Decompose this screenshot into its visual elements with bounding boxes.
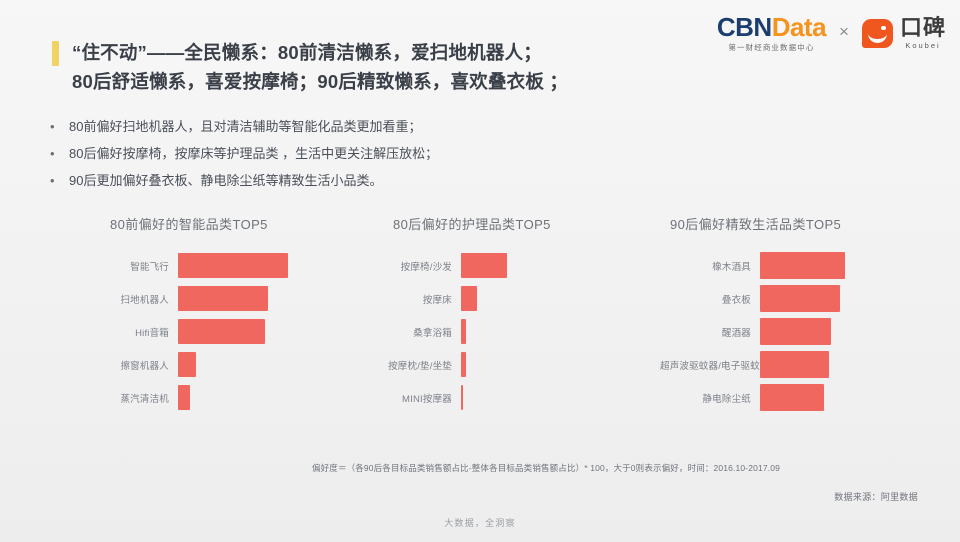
list-item: • 80后偏好按摩椅，按摩床等护理品类 ，生活中更关注解压放松； [50,145,438,163]
bar-fill [760,351,829,378]
bar-row: 智能飞行 [100,249,330,282]
koubei-wordmark: 口碑 Koubei [900,17,946,50]
bar-track [760,282,840,315]
bar-row: MINI按摩器 [385,381,615,414]
bar-category-label: 擦窗机器人 [100,358,178,372]
bar-category-label: 桑拿浴箱 [385,325,461,339]
bar-category-label: 静电除尘纸 [660,391,760,405]
bar-category-label: Hifi音箱 [100,325,178,339]
bar-fill [178,286,268,311]
bar-fill [178,253,288,278]
bullet-text: 80后偏好按摩椅，按摩床等护理品类 ，生活中更关注解压放松； [69,145,438,163]
bar-row: 蒸汽清洁机 [100,381,330,414]
chart-title: 80后偏好的护理品类TOP5 [385,214,615,233]
bar-track [760,315,831,348]
bar-fill [760,252,845,279]
bar-fill [760,384,824,411]
bar-fill [461,253,507,278]
koubei-name-en: Koubei [905,41,940,50]
koubei-smile-icon [862,19,893,48]
bar-row: Hifi音箱 [100,315,330,348]
bar-fill [461,385,463,410]
chart-90hou-refined-life: 90后偏好精致生活品类TOP5 橡木酒具 叠衣板 醒酒器 超声波驱蚊器/电子驱蚊… [660,214,940,414]
chart-80hou-care: 80后偏好的护理品类TOP5 按摩椅/沙发 按摩床 桑拿浴箱 按摩枕/垫/坐垫 [385,214,615,414]
list-item: • 80前偏好扫地机器人，且对清洁辅助等智能化品类更加看重； [50,118,438,136]
cbndata-subtitle: 第一财经商业数据中心 [728,42,814,53]
title-accent-bar [52,41,59,66]
bar-track [461,249,507,282]
bar-row: 扫地机器人 [100,282,330,315]
title-line-1: “住不动”——全民懒系：80前清洁懒系，爱扫地机器人； [72,38,568,67]
bar-series: 智能飞行 扫地机器人 Hifi音箱 擦窗机器人 蒸汽清洁机 [100,249,330,414]
data-source-note: 数据来源：阿里数据 [834,490,918,503]
bar-track [178,282,268,315]
bar-fill [178,319,265,344]
title-text-block: “住不动”——全民懒系：80前清洁懒系，爱扫地机器人； 80后舒适懒系，喜爱按摩… [72,38,568,96]
bar-track [178,381,190,414]
slide-title: “住不动”——全民懒系：80前清洁懒系，爱扫地机器人； 80后舒适懒系，喜爱按摩… [52,38,568,96]
bar-series: 按摩椅/沙发 按摩床 桑拿浴箱 按摩枕/垫/坐垫 MINI按摩器 [385,249,615,414]
bar-fill [461,352,466,377]
bar-row: 超声波驱蚊器/电子驱蚊器 [660,348,940,381]
bar-track [178,348,196,381]
bar-fill [178,352,196,377]
chart-80qian-smart: 80前偏好的智能品类TOP5 智能飞行 扫地机器人 Hifi音箱 擦窗机器人 [100,214,330,414]
bar-category-label: 扫地机器人 [100,292,178,306]
bar-track [760,348,829,381]
list-item: • 90后更加偏好叠衣板、静电除尘纸等精致生活小品类。 [50,172,438,190]
bullet-marker-icon: • [50,174,56,187]
bar-fill [760,318,831,345]
bar-row: 擦窗机器人 [100,348,330,381]
bar-category-label: 超声波驱蚊器/电子驱蚊器 [660,358,760,372]
methodology-footnote: 偏好度＝（各90后各目标品类销售额占比-整体各目标品类销售额占比）* 100，大… [312,462,780,474]
bar-fill [461,286,477,311]
bar-category-label: 橡木酒具 [660,259,760,273]
charts-region: 80前偏好的智能品类TOP5 智能飞行 扫地机器人 Hifi音箱 擦窗机器人 [0,214,960,444]
bar-row: 桑拿浴箱 [385,315,615,348]
bar-fill [461,319,466,344]
bar-category-label: 按摩床 [385,292,461,306]
bar-row: 橡木酒具 [660,249,940,282]
slide-canvas: CBNData 第一财经商业数据中心 × 口碑 Koubei “住不动”——全民… [0,0,960,542]
bar-row: 按摩枕/垫/坐垫 [385,348,615,381]
bar-category-label: 按摩椅/沙发 [385,259,461,273]
bullet-text: 80前偏好扫地机器人，且对清洁辅助等智能化品类更加看重； [69,118,421,136]
bar-fill [760,285,840,312]
bar-category-label: 醒酒器 [660,325,760,339]
bar-row: 按摩床 [385,282,615,315]
cbndata-wordmark-cbn: CBN [717,12,772,42]
footer-brand-slogan: 大数据，全洞察 [0,516,960,529]
brand-logo-bar: CBNData 第一财经商业数据中心 × 口碑 Koubei [717,14,946,53]
bar-row: 醒酒器 [660,315,940,348]
bar-track [461,381,463,414]
bullet-marker-icon: • [50,147,56,160]
bar-category-label: MINI按摩器 [385,391,461,405]
bar-track [461,282,477,315]
chart-title: 80前偏好的智能品类TOP5 [100,214,330,233]
bullet-text: 90后更加偏好叠衣板、静电除尘纸等精致生活小品类。 [69,172,382,190]
bar-series: 橡木酒具 叠衣板 醒酒器 超声波驱蚊器/电子驱蚊器 静电除尘纸 [660,249,940,414]
bar-track [760,381,824,414]
logo-separator-x: × [837,22,851,42]
bar-track [760,249,845,282]
bar-row: 静电除尘纸 [660,381,940,414]
koubei-logo: 口碑 Koubei [862,17,946,50]
bar-track [178,315,265,348]
bullet-list: • 80前偏好扫地机器人，且对清洁辅助等智能化品类更加看重； • 80后偏好按摩… [50,118,438,191]
bar-category-label: 蒸汽清洁机 [100,391,178,405]
bar-track [178,249,288,282]
bar-row: 叠衣板 [660,282,940,315]
cbndata-wordmark: CBNData [717,14,826,40]
title-line-2: 80后舒适懒系，喜爱按摩椅；90后精致懒系，喜欢叠衣板 ； [72,67,568,96]
bar-fill [178,385,190,410]
bar-category-label: 叠衣板 [660,292,760,306]
chart-title: 90后偏好精致生活品类TOP5 [660,214,940,233]
bar-track [461,348,466,381]
koubei-name-cn: 口碑 [900,17,946,39]
bar-track [461,315,466,348]
bar-row: 按摩椅/沙发 [385,249,615,282]
cbndata-wordmark-data: Data [772,12,826,42]
bar-category-label: 按摩枕/垫/坐垫 [385,358,461,372]
bullet-marker-icon: • [50,120,56,133]
bar-category-label: 智能飞行 [100,259,178,273]
cbndata-logo: CBNData 第一财经商业数据中心 [717,14,826,53]
